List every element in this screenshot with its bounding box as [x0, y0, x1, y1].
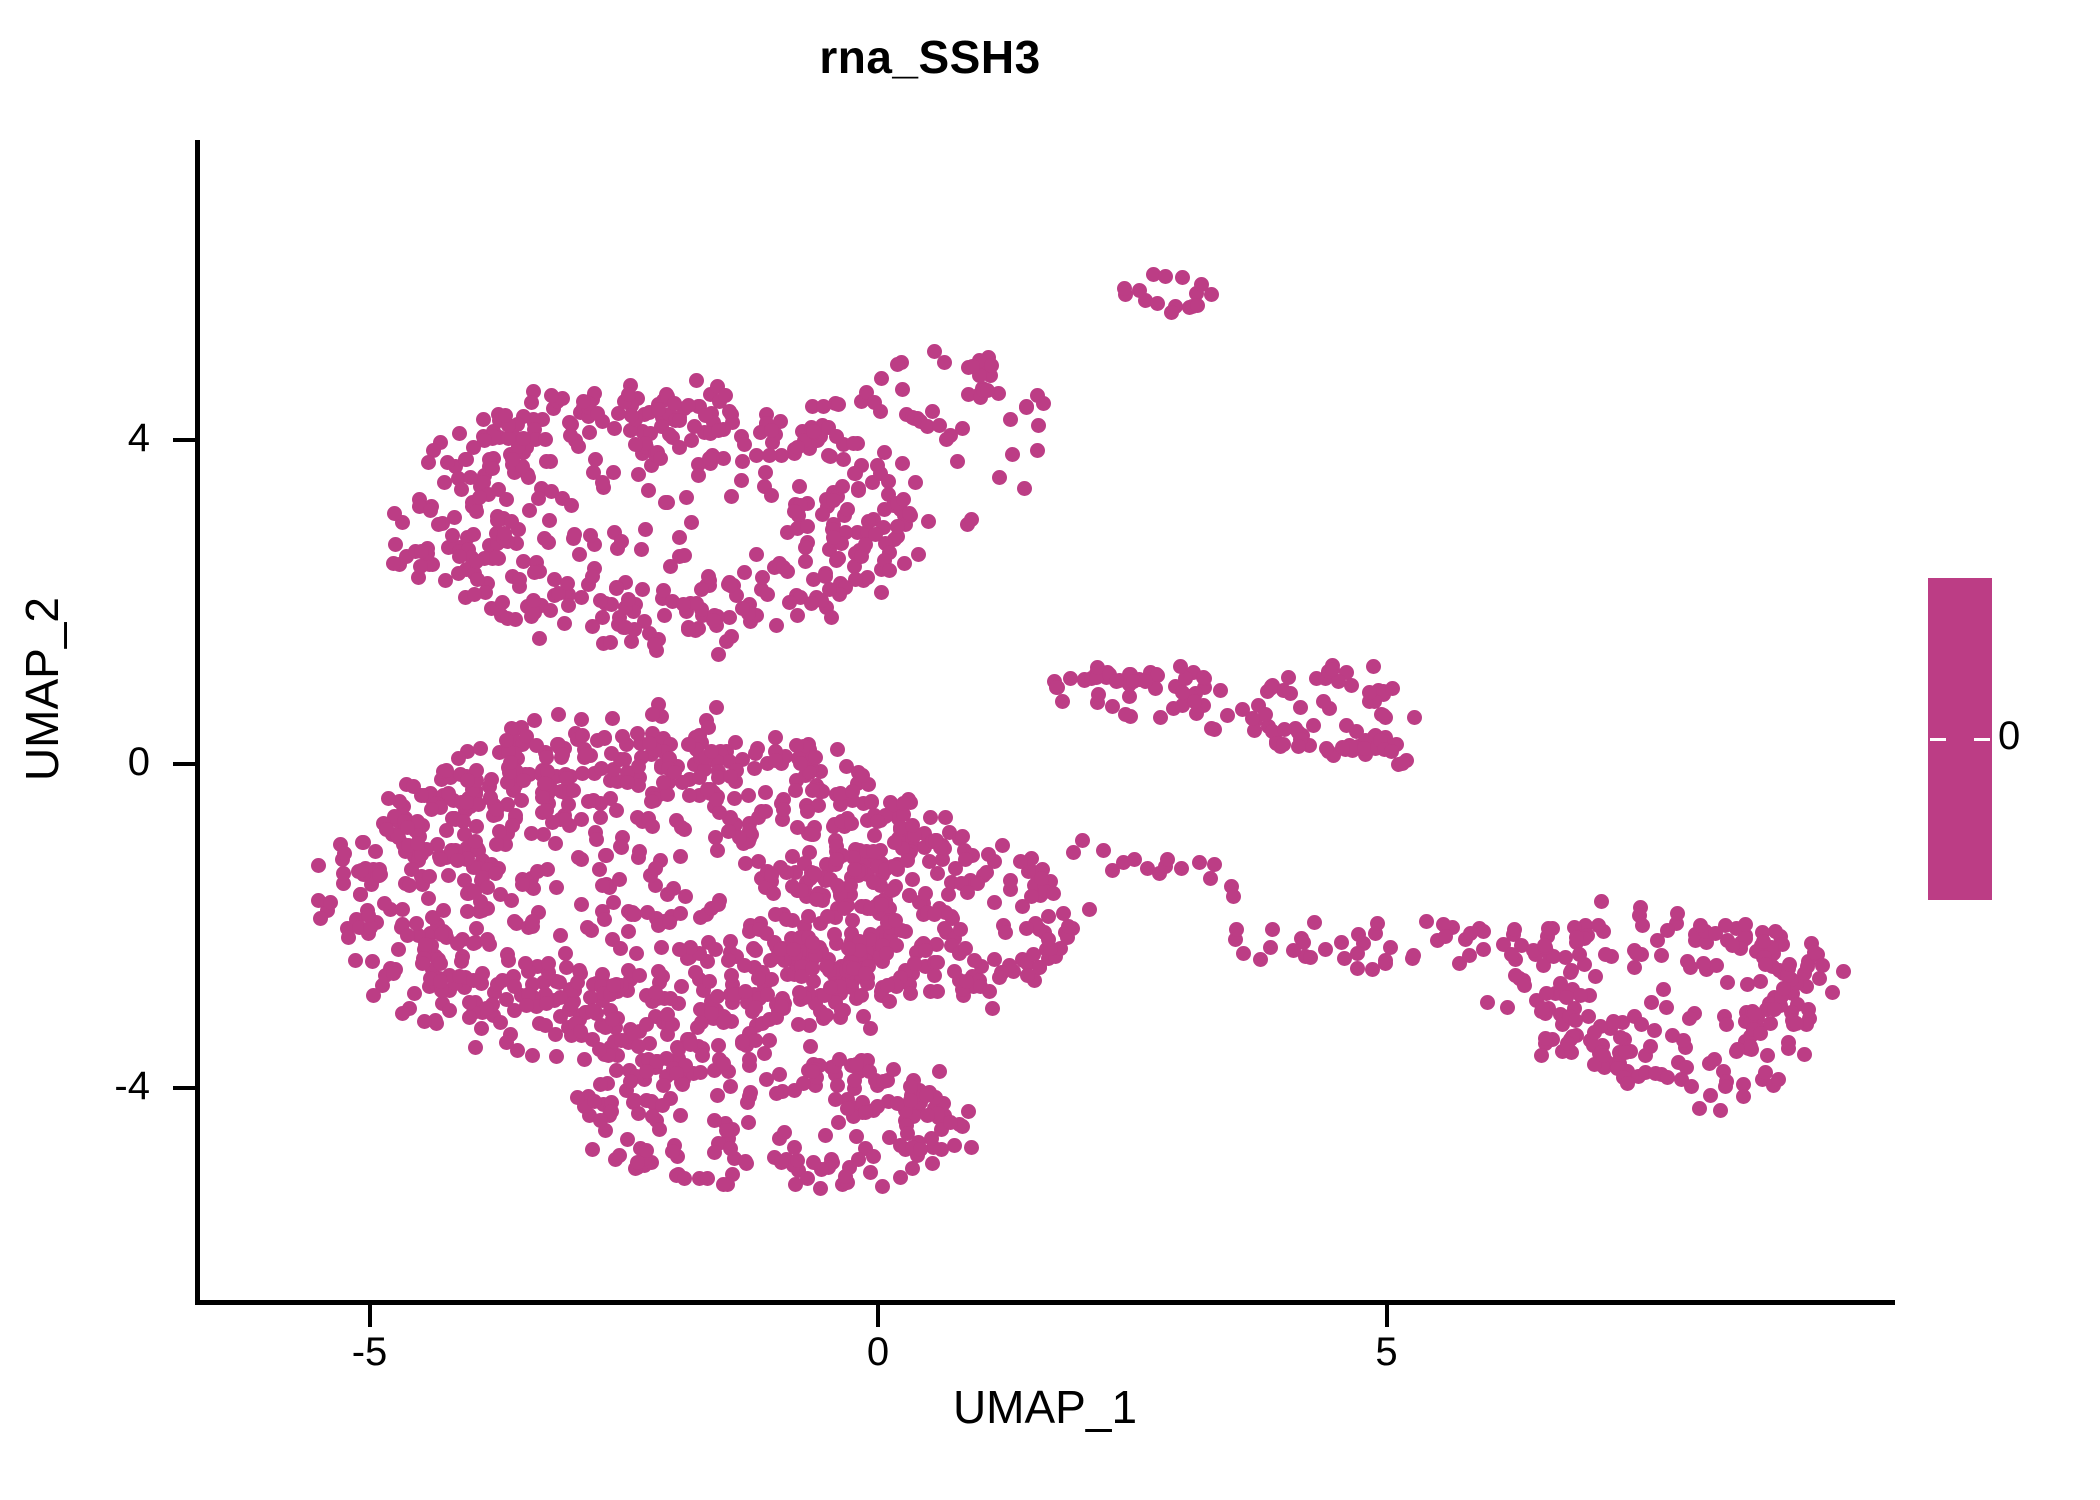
scatter-point	[543, 603, 558, 618]
y-tick-mark	[173, 762, 195, 766]
scatter-point	[682, 788, 697, 803]
scatter-point	[1627, 960, 1642, 975]
scatter-point	[538, 1018, 553, 1033]
scatter-point	[905, 872, 920, 887]
scatter-point	[672, 413, 687, 428]
scatter-point	[888, 860, 903, 875]
scatter-point	[450, 936, 465, 951]
scatter-point	[456, 814, 471, 829]
scatter-point	[774, 999, 789, 1014]
scatter-point	[1082, 902, 1097, 917]
scatter-point	[710, 989, 725, 1004]
scatter-point	[792, 479, 807, 494]
scatter-point	[1643, 1039, 1658, 1054]
scatter-point	[311, 858, 326, 873]
scatter-point	[539, 750, 554, 765]
scatter-point	[585, 619, 600, 634]
scatter-point	[593, 1077, 608, 1092]
scatter-point	[930, 984, 945, 999]
scatter-point	[395, 1006, 410, 1021]
chart-title: rna_SSH3	[0, 30, 1860, 84]
scatter-point	[579, 747, 594, 762]
scatter-point	[1263, 940, 1278, 955]
scatter-point	[469, 554, 484, 569]
scatter-point	[737, 437, 752, 452]
scatter-point	[452, 549, 467, 564]
scatter-point	[1362, 685, 1377, 700]
scatter-point	[881, 474, 896, 489]
scatter-point	[875, 1179, 890, 1194]
colorbar-legend[interactable]	[1928, 578, 1992, 900]
scatter-point	[927, 907, 942, 922]
scatter-point	[1019, 400, 1034, 415]
scatter-point	[813, 1181, 828, 1196]
scatter-point	[819, 1008, 834, 1023]
scatter-point	[1594, 894, 1609, 909]
scatter-point	[614, 534, 629, 549]
scatter-point	[826, 493, 841, 508]
scatter-point	[1003, 412, 1018, 427]
scatter-point	[1075, 833, 1090, 848]
scatter-point	[1395, 756, 1410, 771]
scatter-point	[823, 980, 838, 995]
scatter-point	[1281, 670, 1296, 685]
x-axis-title: UMAP_1	[195, 1380, 1895, 1434]
scatter-point	[548, 836, 563, 851]
scatter-point	[1587, 1025, 1602, 1040]
scatter-point	[801, 909, 816, 924]
scatter-point	[928, 833, 943, 848]
scatter-point	[540, 862, 555, 877]
scatter-point	[1153, 710, 1168, 725]
scatter-point	[1117, 281, 1132, 296]
scatter-point	[654, 940, 669, 955]
scatter-point	[711, 1038, 726, 1053]
scatter-point	[1132, 283, 1147, 298]
scatter-point	[882, 994, 897, 1009]
scatter-point	[1253, 952, 1268, 967]
scatter-point	[987, 895, 1002, 910]
scatter-point	[1350, 946, 1365, 961]
scatter-point	[1031, 418, 1046, 433]
scatter-point	[1277, 722, 1292, 737]
scatter-point	[451, 566, 466, 581]
scatter-point	[677, 1171, 692, 1186]
scatter-point	[503, 755, 518, 770]
scatter-point	[489, 550, 504, 565]
scatter-point	[709, 700, 724, 715]
x-tick-label: -5	[290, 1332, 450, 1372]
scatter-point	[759, 1072, 774, 1087]
scatter-point	[1684, 1079, 1699, 1094]
scatter-point	[620, 1132, 635, 1147]
scatter-point	[1194, 277, 1209, 292]
scatter-point	[867, 828, 882, 843]
scatter-point	[679, 490, 694, 505]
scatter-point	[476, 412, 491, 427]
scatter-point	[1588, 969, 1603, 984]
scatter-point	[757, 1046, 772, 1061]
scatter-point	[673, 1108, 688, 1123]
scatter-point	[434, 927, 449, 942]
scatter-point	[1318, 942, 1333, 957]
scatter-point	[607, 421, 622, 436]
scatter-point	[728, 735, 743, 750]
scatter-point	[764, 868, 779, 883]
scatter-point	[921, 514, 936, 529]
scatter-point	[691, 468, 706, 483]
scatter-point	[645, 707, 660, 722]
scatter-point	[1175, 270, 1190, 285]
scatter-point	[1334, 935, 1349, 950]
scatter-point	[832, 1052, 847, 1067]
scatter-point	[418, 937, 433, 952]
scatter-point	[955, 421, 970, 436]
scatter-point	[723, 578, 738, 593]
scatter-point	[874, 585, 889, 600]
scatter-point	[1462, 948, 1477, 963]
scatter-point	[566, 783, 581, 798]
x-tick-label: 5	[1307, 1332, 1467, 1372]
scatter-point	[1559, 990, 1574, 1005]
scatter-point	[454, 954, 469, 969]
scatter-point	[648, 861, 663, 876]
scatter-point	[805, 1064, 820, 1079]
scatter-point	[804, 596, 819, 611]
scatter-point	[381, 791, 396, 806]
scatter-point	[769, 1086, 784, 1101]
scatter-point	[1325, 662, 1340, 677]
scatter-point	[870, 814, 885, 829]
scatter-point	[1708, 926, 1723, 941]
scatter-point	[895, 456, 910, 471]
scatter-point	[896, 796, 911, 811]
scatter-point	[830, 742, 845, 757]
scatter-point	[764, 972, 779, 987]
scatter-point	[919, 1088, 934, 1103]
scatter-point	[1378, 953, 1393, 968]
scatter-point	[609, 803, 624, 818]
scatter-point	[524, 395, 539, 410]
scatter-point	[498, 408, 513, 423]
scatter-point	[621, 387, 636, 402]
scatter-point	[391, 942, 406, 957]
scatter-point	[678, 889, 693, 904]
scatter-point	[662, 915, 677, 930]
scatter-point	[1476, 924, 1491, 939]
scatter-point	[748, 943, 763, 958]
scatter-point	[706, 613, 721, 628]
scatter-point	[856, 1009, 871, 1024]
scatter-point	[666, 881, 681, 896]
scatter-point	[1118, 707, 1133, 722]
scatter-point	[354, 863, 369, 878]
scatter-point	[1539, 986, 1554, 1001]
scatter-point	[522, 503, 537, 518]
scatter-point	[1660, 1070, 1675, 1085]
scatter-point	[501, 953, 516, 968]
scatter-point	[1350, 961, 1365, 976]
scatter-point	[918, 886, 933, 901]
scatter-point	[822, 582, 837, 597]
scatter-point	[555, 747, 570, 762]
scatter-point	[1789, 1016, 1804, 1031]
scatter-point	[738, 856, 753, 871]
scatter-point	[758, 785, 773, 800]
scatter-point	[1807, 945, 1822, 960]
scatter-point	[571, 850, 586, 865]
scatter-point	[348, 953, 363, 968]
scatter-point	[1782, 957, 1797, 972]
scatter-point	[1150, 296, 1165, 311]
scatter-point	[592, 862, 607, 877]
scatter-point	[558, 946, 573, 961]
scatter-point	[1692, 1101, 1707, 1116]
scatter-point	[574, 590, 589, 605]
scatter-point	[621, 924, 636, 939]
scatter-point	[585, 1142, 600, 1157]
scatter-point	[544, 388, 559, 403]
scatter-point	[452, 426, 467, 441]
scatter-point	[718, 388, 733, 403]
colorbar-tick-label: 0	[1998, 716, 2088, 756]
scatter-point	[341, 930, 356, 945]
scatter-point	[760, 587, 775, 602]
scatter-point	[1463, 926, 1478, 941]
scatter-point	[631, 1039, 646, 1054]
scatter-point	[995, 838, 1010, 853]
scatter-point	[1366, 659, 1381, 674]
scatter-point	[677, 548, 692, 563]
scatter-point	[597, 730, 612, 745]
scatter-point	[468, 1040, 483, 1055]
scatter-point	[1303, 950, 1318, 965]
scatter-point	[734, 473, 749, 488]
scatter-point	[1634, 1017, 1649, 1032]
scatter-point	[992, 470, 1007, 485]
scatter-point	[1109, 674, 1124, 689]
scatter-point	[1063, 671, 1078, 686]
scatter-point	[965, 359, 980, 374]
scatter-point	[707, 1145, 722, 1160]
scatter-point	[829, 852, 844, 867]
scatter-point	[1192, 855, 1207, 870]
scatter-point	[467, 587, 482, 602]
scatter-point	[1286, 943, 1301, 958]
scatter-point	[1055, 694, 1070, 709]
scatter-point	[497, 526, 512, 541]
scatter-point	[395, 902, 410, 917]
scatter-point	[1747, 1006, 1762, 1021]
scatter-point	[790, 820, 805, 835]
scatter-point	[387, 506, 402, 521]
scatter-point	[1682, 1011, 1697, 1026]
scatter-point	[902, 506, 917, 521]
scatter-point	[820, 909, 835, 924]
scatter-point	[723, 1079, 738, 1094]
scatter-point	[1598, 947, 1613, 962]
scatter-point	[721, 953, 736, 968]
scatter-point	[927, 344, 942, 359]
scatter-point	[896, 492, 911, 507]
scatter-point	[1564, 963, 1579, 978]
scatter-point	[1187, 694, 1202, 709]
scatter-point	[923, 810, 938, 825]
scatter-point	[908, 475, 923, 490]
scatter-point	[816, 399, 831, 414]
scatter-point	[488, 866, 503, 881]
scatter-point	[735, 454, 750, 469]
scatter-point	[831, 551, 846, 566]
scatter-point	[982, 984, 997, 999]
scatter-point	[964, 512, 979, 527]
scatter-point	[657, 608, 672, 623]
scatter-point	[532, 631, 547, 646]
scatter-point	[539, 996, 554, 1011]
scatter-point	[937, 355, 952, 370]
scatter-point	[866, 844, 881, 859]
scatter-point	[437, 475, 452, 490]
scatter-point	[741, 788, 756, 803]
scatter-point	[953, 922, 968, 937]
scatter-point	[1606, 1014, 1621, 1029]
scatter-point	[800, 804, 815, 819]
scatter-point	[479, 1001, 494, 1016]
scatter-point	[890, 519, 905, 534]
scatter-point	[1293, 700, 1308, 715]
scatter-point	[564, 997, 579, 1012]
scatter-point	[766, 886, 781, 901]
scatter-point	[789, 738, 804, 753]
scatter-point	[1019, 921, 1034, 936]
scatter-point	[979, 865, 994, 880]
scatter-point	[805, 783, 820, 798]
scatter-point	[551, 707, 566, 722]
scatter-point	[460, 904, 475, 919]
scatter-point	[700, 1171, 715, 1186]
x-tick-mark	[1385, 1305, 1389, 1327]
scatter-point	[985, 1001, 1000, 1016]
scatter-point	[613, 941, 628, 956]
scatter-point	[862, 1064, 877, 1079]
scatter-point	[1236, 946, 1251, 961]
scatter-point	[874, 371, 889, 386]
scatter-point	[1500, 1000, 1515, 1015]
scatter-point	[644, 794, 659, 809]
scatter-point	[557, 616, 572, 631]
scatter-point	[800, 519, 815, 534]
scatter-point	[1763, 1016, 1778, 1031]
scatter-point	[423, 503, 438, 518]
scatter-point	[605, 711, 620, 726]
scatter-point	[575, 766, 590, 781]
scatter-point	[1480, 995, 1495, 1010]
scatter-point	[323, 895, 338, 910]
scatter-point	[721, 824, 736, 839]
scatter-point	[1265, 922, 1280, 937]
scatter-point	[1656, 982, 1671, 997]
scatter-point	[769, 618, 784, 633]
scatter-point	[512, 572, 527, 587]
scatter-point	[938, 810, 953, 825]
scatter-point	[508, 612, 523, 627]
scatter-point	[702, 451, 717, 466]
scatter-point	[831, 397, 846, 412]
scatter-point	[1538, 1031, 1553, 1046]
scatter-point	[793, 756, 808, 771]
scatter-point	[655, 1098, 670, 1113]
scatter-point	[762, 1033, 777, 1048]
scatter-point	[774, 1155, 789, 1170]
scatter-point	[830, 878, 845, 893]
scatter-point	[615, 729, 630, 744]
scatter-point	[723, 769, 738, 784]
figure-canvas: rna_SSH3 -404 -505 UMAP_1 UMAP_2 0	[0, 0, 2100, 1500]
scatter-point	[409, 916, 424, 931]
scatter-point	[1226, 889, 1241, 904]
scatter-point	[452, 969, 467, 984]
scatter-point	[1553, 976, 1568, 991]
scatter-point	[911, 547, 926, 562]
scatter-point	[790, 440, 805, 455]
scatter-point	[870, 458, 885, 473]
scatter-point	[604, 746, 619, 761]
scatter-point	[515, 877, 530, 892]
scatter-point	[589, 832, 604, 847]
scatter-point	[473, 741, 488, 756]
scatter-point	[711, 647, 726, 662]
scatter-point	[701, 720, 716, 735]
y-tick-mark	[173, 438, 195, 442]
colorbar-tick-right	[1974, 738, 1990, 741]
scatter-point	[594, 761, 609, 776]
scatter-point	[800, 1171, 815, 1186]
scatter-point	[527, 713, 542, 728]
scatter-point	[1263, 681, 1278, 696]
scatter-point	[689, 373, 704, 388]
scatter-point	[660, 1007, 675, 1022]
scatter-point	[549, 880, 564, 895]
scatter-point	[710, 843, 725, 858]
scatter-point	[1276, 737, 1291, 752]
scatter-point	[1204, 721, 1219, 736]
scatter-point	[1797, 1047, 1812, 1062]
scatter-point	[466, 527, 481, 542]
scatter-point	[1660, 923, 1675, 938]
scatter-point	[803, 1039, 818, 1054]
scatter-point	[711, 897, 726, 912]
scatter-point	[672, 530, 687, 545]
scatter-point	[950, 454, 965, 469]
scatter-point	[612, 1148, 627, 1163]
scatter-point	[451, 751, 466, 766]
scatter-point	[735, 601, 750, 616]
scatter-point	[466, 936, 481, 951]
scatter-point	[716, 1056, 731, 1071]
scatter-point	[1508, 968, 1523, 983]
scatter-point	[407, 986, 422, 1001]
scatter-point	[873, 404, 888, 419]
scatter-point	[1207, 857, 1222, 872]
scatter-point	[1220, 708, 1235, 723]
scatter-point	[542, 513, 557, 528]
scatter-point	[788, 783, 803, 798]
scatter-point	[667, 396, 682, 411]
x-tick-label: 0	[798, 1332, 958, 1372]
scatter-point	[741, 1115, 756, 1130]
x-tick-mark	[876, 1305, 880, 1327]
scatter-point	[724, 489, 739, 504]
